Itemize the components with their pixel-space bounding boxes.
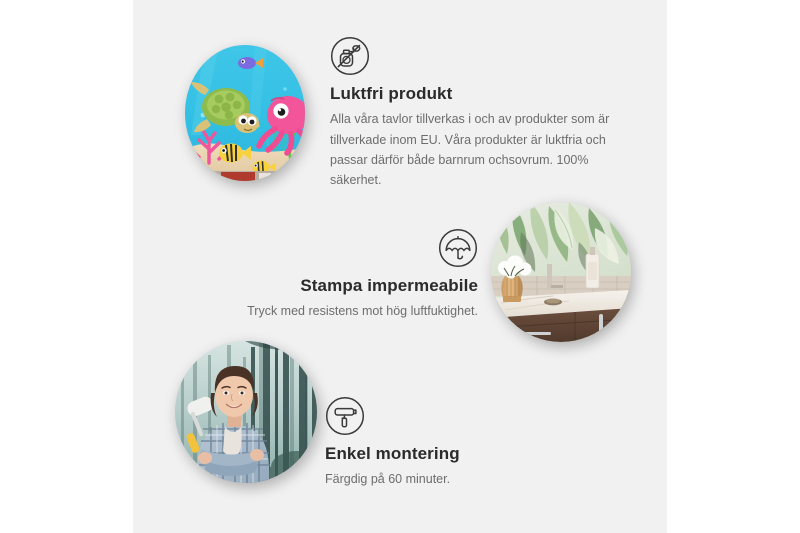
feature-easy-mounting: Enkel montering Färgdig på 60 minuter. (325, 396, 565, 490)
no-perfume-icon (330, 36, 370, 76)
feature-title: Luktfri produkt (330, 84, 630, 104)
feature-odor-free: Luktfri produkt Alla våra tavlor tillver… (330, 36, 630, 190)
umbrella-icon (438, 228, 478, 268)
feature-description: Färgdig på 60 minuter. (325, 469, 565, 489)
feature-title: Stampa impermeabile (213, 276, 478, 296)
content-canvas: Luktfri produkt Alla våra tavlor tillver… (133, 0, 667, 533)
promo-infographic: Luktfri produkt Alla våra tavlor tillver… (0, 0, 800, 533)
paint-roller-icon (325, 396, 365, 436)
feature-title: Enkel montering (325, 444, 565, 464)
feature-description: Tryck med resistens mot hög luftfuktighe… (213, 301, 478, 321)
photo-forest-installer (175, 341, 317, 483)
photo-bathroom-wallpaper (491, 202, 631, 342)
feature-waterproof: Stampa impermeabile Tryck med resistens … (213, 228, 478, 322)
feature-description: Alla våra tavlor tillverkas i och av pro… (330, 109, 630, 190)
photo-ocean-mural (185, 45, 305, 181)
